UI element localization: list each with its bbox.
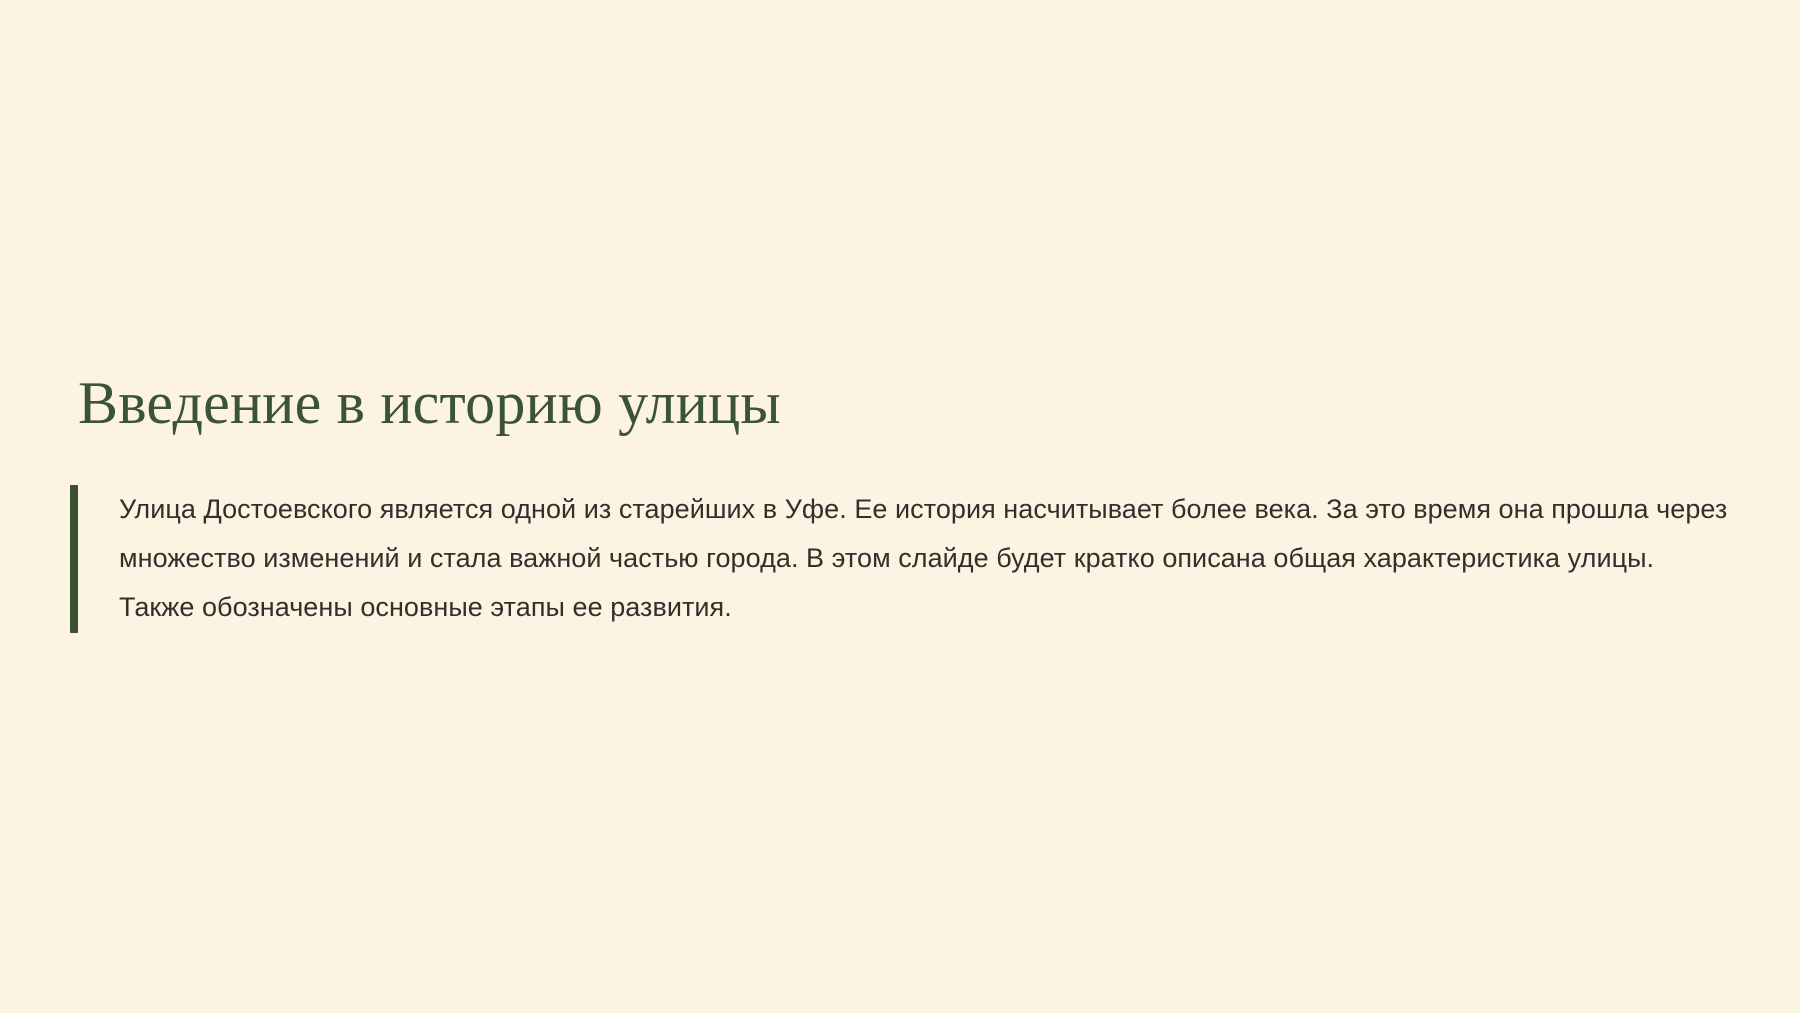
body-paragraph: Улица Достоевского является одной из ста… bbox=[78, 485, 1728, 632]
accent-bar bbox=[70, 485, 78, 632]
page-title: Введение в историю улицы bbox=[78, 370, 1728, 437]
slide-canvas: Введение в историю улицы Улица Достоевск… bbox=[0, 0, 1800, 1013]
body-callout: Улица Достоевского является одной из ста… bbox=[70, 485, 1728, 632]
slide-content: Введение в историю улицы Улица Достоевск… bbox=[78, 370, 1728, 633]
